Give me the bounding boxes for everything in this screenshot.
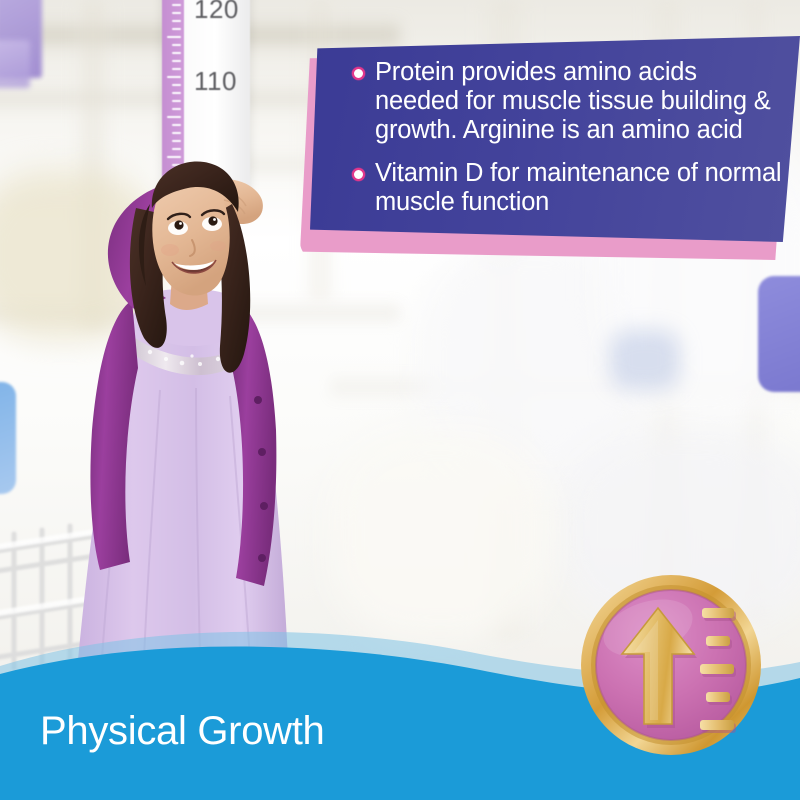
benefit-list: Protein provides amino acids needed for …	[352, 58, 782, 231]
benefit-text-vitamin-d: Vitamin D for maintenance of normal musc…	[375, 159, 782, 217]
right-edge-purple-panel	[758, 276, 800, 392]
list-item: Protein provides amino acids needed for …	[352, 58, 782, 145]
shelf-product-box	[0, 40, 30, 88]
list-item: Vitamin D for maintenance of normal musc…	[352, 159, 782, 217]
left-edge-blue-panel	[0, 382, 16, 494]
background-blue-tint	[610, 330, 680, 390]
promo-graphic: 120 110	[0, 0, 800, 800]
info-panel-body: Protein provides amino acids needed for …	[310, 36, 800, 242]
ruler-mark-120: 120	[194, 0, 239, 25]
banner-title: Physical Growth	[40, 709, 325, 754]
bullet-dot-icon	[352, 67, 365, 80]
benefit-text-protein: Protein provides amino acids needed for …	[375, 58, 782, 145]
info-panel: Protein provides amino acids needed for …	[296, 36, 800, 256]
bullet-dot-icon	[352, 168, 365, 181]
ruler-mark-110: 110	[194, 66, 237, 97]
growth-badge	[578, 572, 764, 758]
